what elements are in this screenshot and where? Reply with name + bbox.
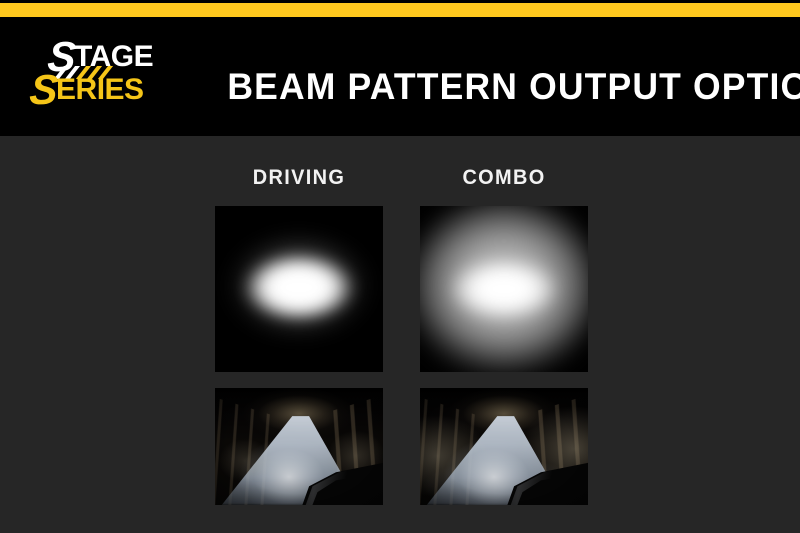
driving-beam-pattern — [215, 206, 383, 372]
combo-beam-pattern — [420, 206, 588, 372]
combo-beam-hotspot — [447, 256, 561, 322]
accent-bar — [0, 3, 800, 17]
driving-road-photo — [215, 388, 383, 505]
stage-series-logo: STAGE SERIES — [24, 36, 184, 110]
photo-vignette — [420, 388, 588, 505]
header-band: STAGE SERIES BEAM PATTERN OUTPUT OPTIONS — [0, 0, 800, 136]
logo-series-rest: ERIES — [56, 75, 144, 105]
column-label-combo: COMBO — [424, 166, 584, 190]
photo-vignette — [215, 388, 383, 505]
beam-pattern-infographic: STAGE SERIES BEAM PATTERN OUTPUT OPTIONS… — [0, 0, 800, 533]
page-title: BEAM PATTERN OUTPUT OPTIONS — [227, 64, 770, 110]
column-label-driving: DRIVING — [219, 166, 379, 190]
combo-road-photo — [420, 388, 588, 505]
logo-series-cap: S — [28, 69, 58, 111]
driving-beam-hotspot — [239, 251, 360, 324]
logo-line-series: SERIES — [30, 69, 144, 111]
